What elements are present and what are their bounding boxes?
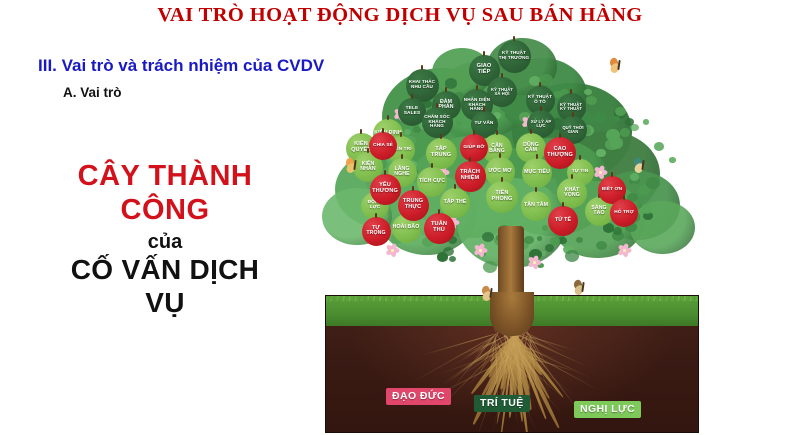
virtue-label: BIẾT ƠN [602, 188, 623, 193]
fruit-stem [483, 51, 485, 56]
fruit-stem [530, 129, 532, 134]
skill-label: QUỸ THỜI GIAN [560, 126, 586, 135]
success-tree-caption: CÂY THÀNH CÔNG của CỐ VẤN DỊCH VỤ [0, 160, 330, 319]
section-heading: III. Vai trò và trách nhiệm của CVDV [38, 56, 324, 76]
virtue-node: TRUNG THỰC [398, 190, 429, 221]
leaf-tuft [610, 137, 623, 148]
caption-line-1: CÂY THÀNH [0, 160, 330, 194]
virtue-node: CAO THƯỢNG [544, 137, 576, 169]
skill-label: KỸ THUẬT KỸ THUẬT [558, 103, 585, 112]
leaf-tuft [482, 232, 494, 242]
foliage-cluster [630, 201, 695, 254]
virtue-label: CAO THƯỢNG [545, 147, 575, 158]
fruit-stem [431, 163, 433, 168]
value-label: TẬN TÂM [524, 203, 548, 208]
skill-label: XỬ LÝ ÁP LỰC [528, 120, 554, 129]
value-label: TỰ TIN [572, 170, 589, 175]
virtue-node: CHIA SẺ [369, 132, 397, 160]
fruit-stem [469, 157, 471, 162]
blossom-icon [618, 244, 631, 257]
skill-label: TELE SALES [399, 107, 425, 117]
fruit-stem [501, 73, 503, 78]
skill-label: CHĂM SÓC KHÁCH HÀNG [423, 115, 452, 129]
fruit-stem [387, 115, 389, 120]
fruit-stem [438, 209, 440, 214]
leaf-tuft [404, 129, 411, 135]
root-value-chip: NGHỊ LỰC [574, 401, 641, 418]
virtue-label: HỖ TRỢ [614, 211, 634, 216]
fruit-stem [454, 184, 456, 189]
skill-label: KHAI THÁC NHU CẦU [407, 80, 438, 89]
skill-label: TƯ VẤN [475, 122, 494, 127]
value-node: TẬN TÂM [521, 191, 551, 221]
leaf-tuft [625, 118, 634, 126]
skill-label: NHẬN DIỆN KHÁCH HÀNG [462, 98, 492, 112]
skill-label: GIAO TIẾP [470, 64, 499, 75]
butterfly-icon [482, 286, 500, 300]
butterfly-icon [610, 58, 628, 72]
leaf-tuft [615, 107, 626, 116]
virtue-node: HỖ TRỢ [610, 199, 638, 227]
virtue-node: YÊU THƯƠNG [370, 174, 401, 205]
fruit-stem [445, 87, 447, 92]
value-label: TÍCH CỰC [419, 179, 445, 184]
fruit-stem [562, 202, 564, 207]
leaf-tuft [669, 157, 675, 162]
fruit-stem [501, 177, 503, 182]
fruit-stem [375, 213, 377, 218]
fruit-stem [483, 107, 485, 112]
fruit-stem [436, 103, 438, 108]
virtue-label: TRUNG THỰC [399, 199, 428, 210]
fruit-stem [536, 154, 538, 159]
butterfly-icon [574, 280, 592, 294]
leaf-tuft [545, 244, 554, 252]
blossom-icon [528, 256, 541, 269]
fruit-stem [571, 174, 573, 179]
leaf-tuft [483, 261, 497, 273]
skill-label: KỸ THUẬT THỊ TRƯỜNG [499, 51, 530, 60]
leaf-tuft [537, 236, 542, 240]
fruit-stem [611, 172, 613, 177]
caption-line-5: VỤ [0, 287, 330, 319]
slide-canvas: VAI TRÒ HOẠT ĐỘNG DỊCH VỤ SAU BÁN HÀNG I… [0, 0, 800, 435]
virtue-label: TỬ TẾ [555, 218, 571, 223]
value-label: TẬP THỂ [444, 200, 467, 205]
fruit-stem [412, 186, 414, 191]
fruit-stem [540, 106, 542, 111]
value-label: MỤC TIÊU [524, 170, 550, 175]
root-value-chip: ĐẠO ĐỨC [386, 388, 451, 405]
butterfly-icon [346, 158, 364, 172]
leaf-tuft [596, 241, 607, 250]
value-label: SÁNG TẠO [586, 206, 613, 217]
success-tree-illustration: GIAO TIẾPKỸ THUẬT THỊ TRƯỜNGKỸ THUẬT XÃ … [322, 48, 702, 435]
leaf-tuft [449, 256, 456, 262]
virtue-node: TỬ TẾ [548, 206, 578, 236]
virtue-label: CHIA SẺ [373, 144, 393, 149]
fruit-stem [384, 170, 386, 175]
virtue-node: TRÁCH NHIỆM [455, 161, 486, 192]
leaf-tuft [584, 89, 592, 96]
leaf-tuft [613, 227, 622, 235]
leaf-tuft [620, 128, 630, 136]
skill-label: KỸ THUẬT Ô TÔ [527, 95, 554, 104]
fruit-stem [360, 129, 362, 134]
fruit-stem [499, 153, 501, 158]
leaf-tuft [437, 252, 448, 262]
fruit-stem [382, 128, 384, 133]
fruit-stem [579, 155, 581, 160]
virtue-label: YÊU THƯƠNG [371, 183, 400, 194]
leaf-tuft [456, 121, 462, 126]
root-value-chip: TRÍ TUỆ [474, 395, 530, 412]
caption-line-4: CỐ VẤN DỊCH [0, 254, 330, 286]
fruit-stem [559, 133, 561, 138]
fruit-stem [572, 112, 574, 117]
leaf-tuft [646, 177, 659, 188]
fruit-stem [539, 82, 541, 87]
value-node: TIÊN PHONG [486, 181, 518, 213]
fruit-stem [473, 130, 475, 135]
fruit-stem [440, 134, 442, 139]
skill-node: CHĂM SÓC KHÁCH HÀNG [422, 107, 453, 138]
virtue-label: GIÚP ĐỠ [463, 146, 484, 151]
leaf-tuft [654, 142, 664, 151]
virtue-node: TỰ TRỌNG [362, 217, 391, 246]
fruit-stem [535, 187, 537, 192]
value-label: DŨNG CẢM [517, 143, 545, 154]
value-label: TIÊN PHONG [487, 191, 517, 202]
fruit-stem [421, 65, 423, 70]
caption-line-2: CÔNG [0, 194, 330, 228]
leaf-tuft [565, 250, 579, 262]
fruit-stem [570, 89, 572, 94]
fruit-stem [411, 94, 413, 99]
leaf-tuft [643, 119, 650, 125]
slide-title: VAI TRÒ HOẠT ĐỘNG DỊCH VỤ SAU BÁN HÀNG [0, 4, 800, 27]
skill-node: KỸ THUẬT THỊ TRƯỜNG [498, 40, 531, 73]
virtue-node: GIÚP ĐỠ [460, 134, 488, 162]
blossom-icon [474, 244, 487, 257]
virtue-node: TUÂN THỦ [424, 213, 455, 244]
fruit-stem [496, 130, 498, 135]
virtue-label: TỰ TRỌNG [363, 226, 390, 237]
value-label: ƯỚC MƠ [488, 169, 511, 174]
fruit-stem [400, 132, 402, 137]
value-label: TẬP TRUNG [427, 147, 456, 158]
virtue-label: TUÂN THỦ [425, 222, 454, 233]
butterfly-icon [634, 158, 652, 172]
fruit-stem [401, 154, 403, 159]
value-label: HOÀI BÃO [393, 225, 420, 230]
virtue-label: TRÁCH NHIỆM [456, 170, 485, 181]
fruit-stem [623, 195, 625, 200]
value-label: KHÁT VỌNG [558, 188, 586, 199]
fruit-stem [476, 85, 478, 90]
blossom-icon [386, 244, 399, 257]
skill-label: KỸ THUẬT XÃ HỘI [488, 88, 516, 97]
leaf-tuft [593, 112, 606, 123]
leaf-tuft [630, 173, 639, 181]
subsection-label: A. Vai trò [63, 85, 122, 100]
fruit-stem [513, 36, 515, 41]
leaf-tuft [542, 225, 549, 231]
caption-line-3: của [0, 231, 330, 254]
